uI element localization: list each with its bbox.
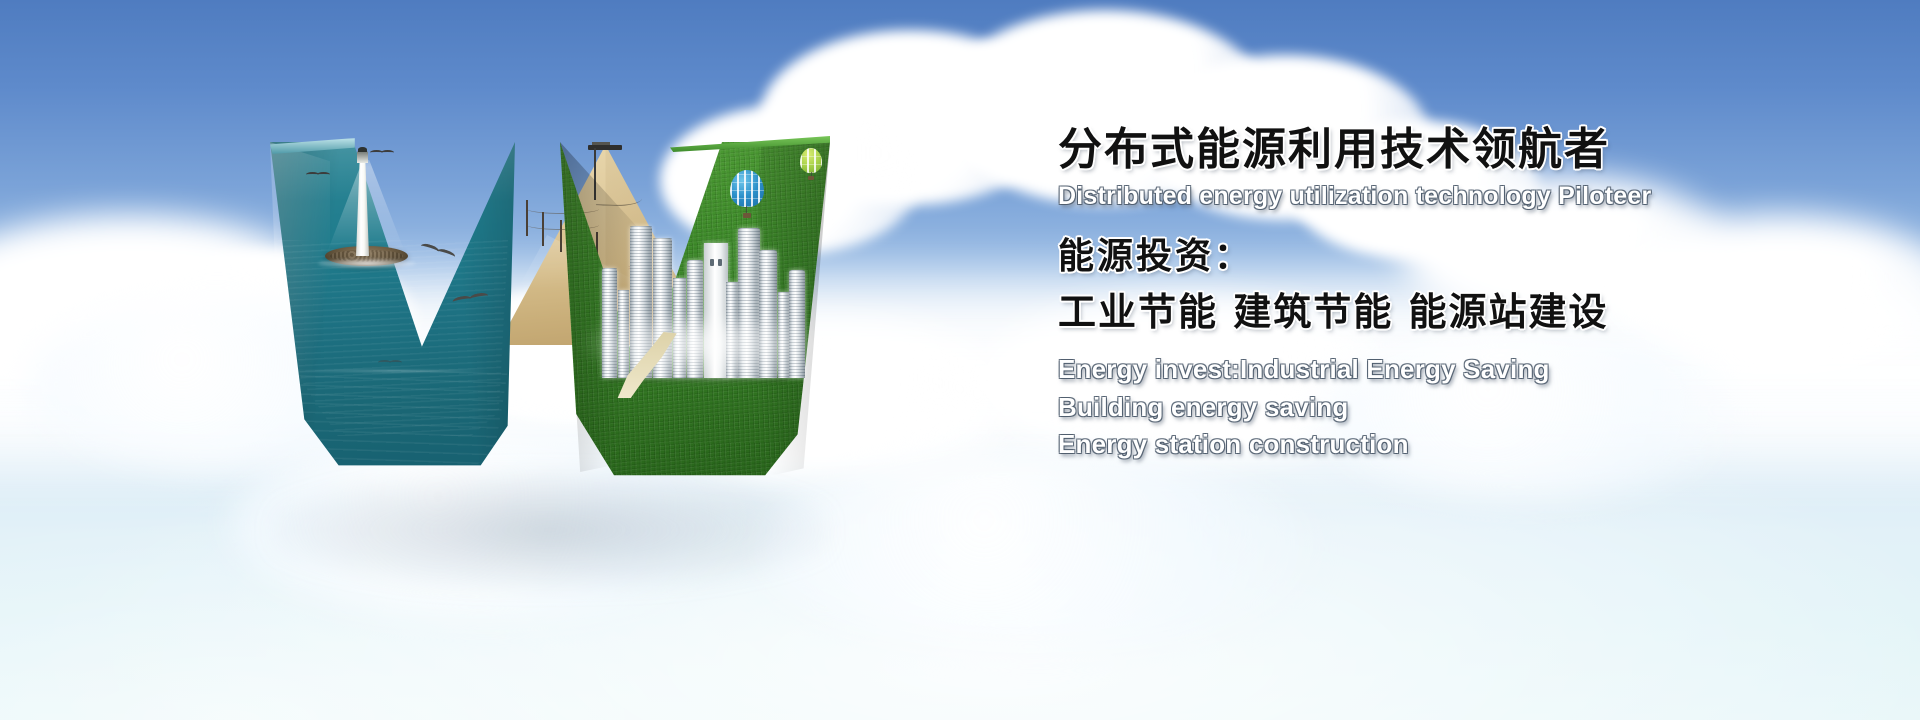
invest-line-en: Energy station construction <box>1058 428 1858 461</box>
invest-line-en: Building energy saving <box>1058 391 1858 424</box>
invest-items-chinese: 工业节能 建筑节能 能源站建设 <box>1058 292 1858 333</box>
lighthouse-cap <box>358 147 367 152</box>
water-horizon-line <box>288 370 493 372</box>
city-haze <box>582 320 822 380</box>
hot-air-balloon-icon <box>800 148 822 180</box>
letter-w-artwork: ⁂ ⁂ <box>230 120 870 540</box>
invest-label-chinese: 能源投资： <box>1058 238 1858 277</box>
water-ripples <box>278 370 508 475</box>
lighthouse-lamp <box>357 151 368 163</box>
hero-banner: ⁂ ⁂ <box>0 0 1920 720</box>
headline-chinese: 分布式能源利用技术领航者 <box>1058 126 1858 174</box>
banner-text-panel: 分布式能源利用技术领航者 Distributed energy utilizat… <box>1058 126 1858 465</box>
artwork-shadow <box>270 470 830 590</box>
invest-lines-english: Energy invest:Industrial Energy Saving B… <box>1058 353 1858 461</box>
subheadline-english: Distributed energy utilization technolog… <box>1058 180 1858 212</box>
island-foam <box>318 259 416 268</box>
invest-line-en: Energy invest:Industrial Energy Saving <box>1058 353 1858 386</box>
hot-air-balloon-icon <box>730 170 764 218</box>
